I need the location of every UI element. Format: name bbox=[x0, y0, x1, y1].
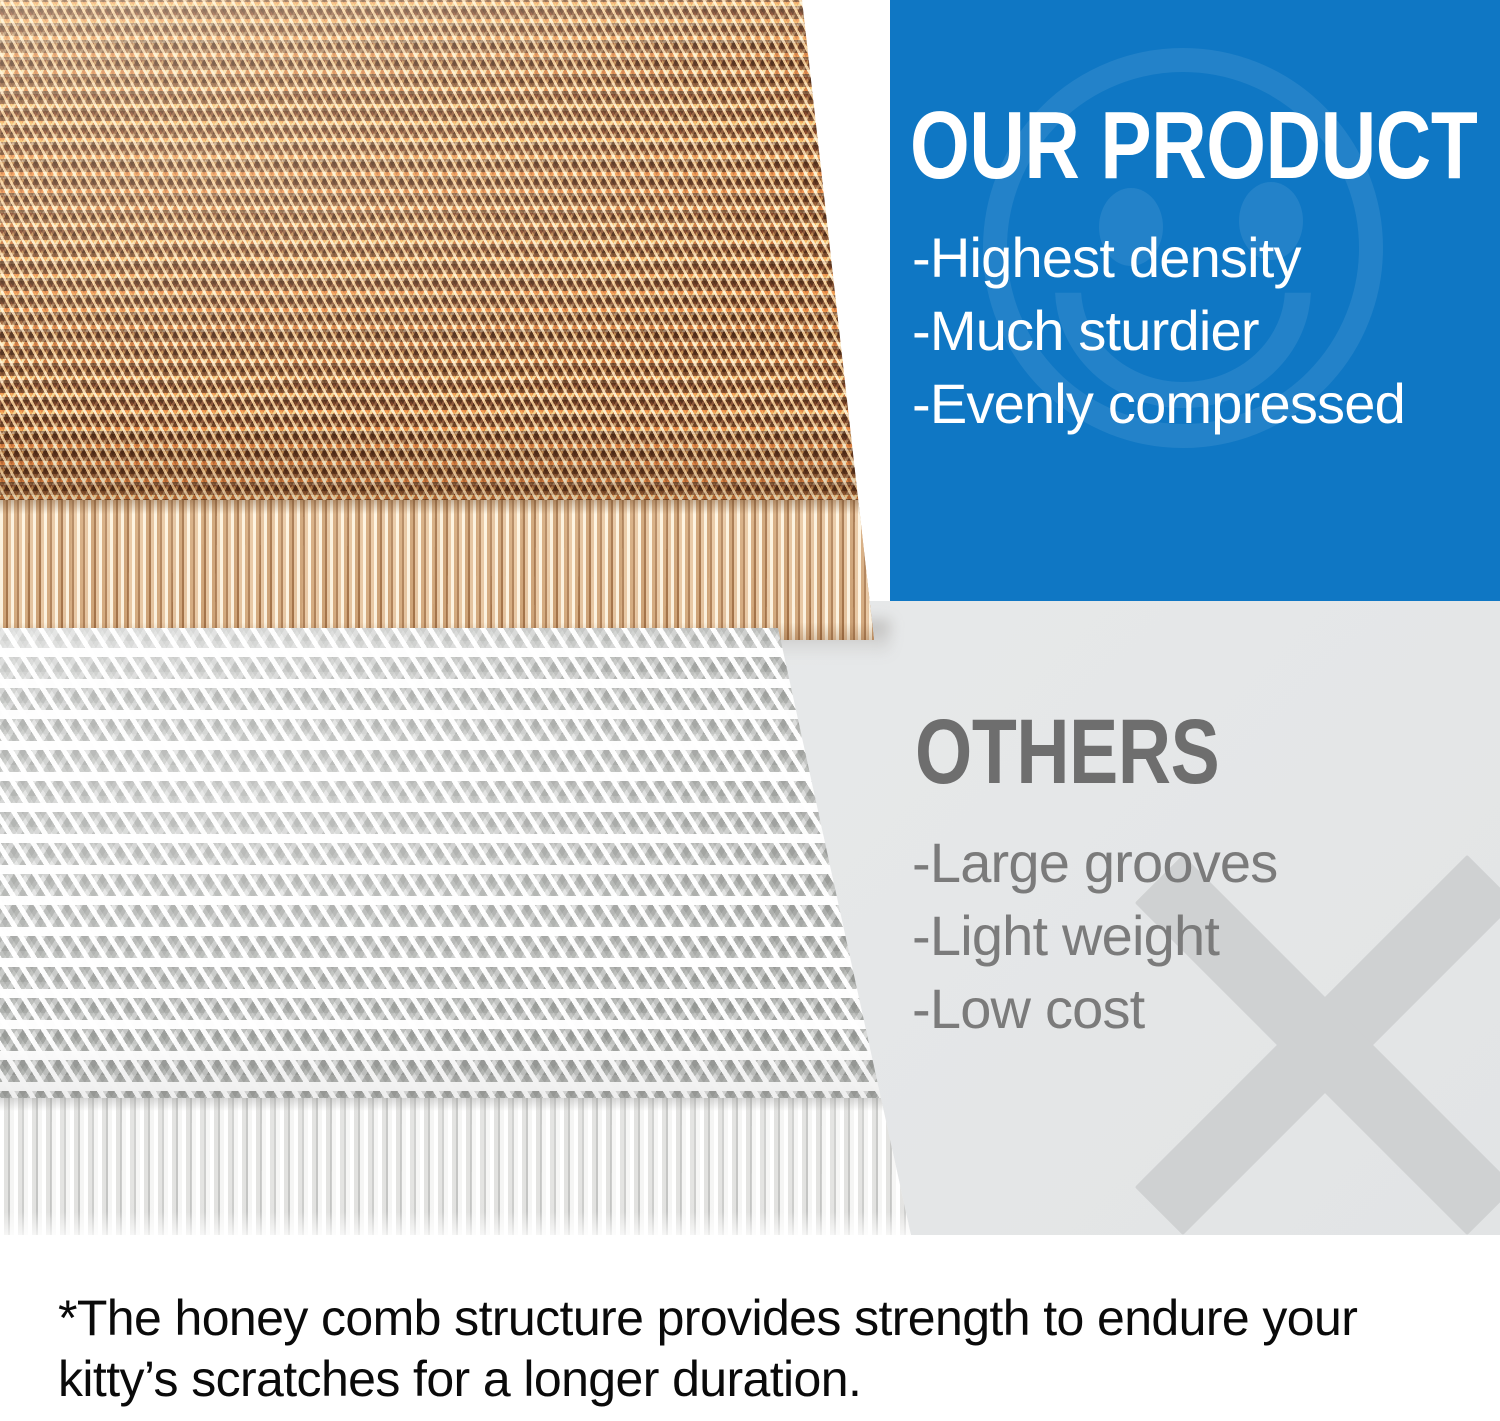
white-honeycomb-cardboard-image bbox=[0, 628, 930, 1240]
our-product-heading: OUR PRODUCT bbox=[910, 98, 1477, 194]
white-honeycomb-surface bbox=[0, 628, 930, 1106]
brown-honeycomb-surface bbox=[0, 0, 880, 508]
list-item: -Large grooves bbox=[912, 827, 1277, 900]
white-slab-edge bbox=[0, 1098, 930, 1240]
others-feature-list: -Large grooves -Light weight -Low cost bbox=[912, 827, 1277, 1045]
infographic-root: OUR PRODUCT OTHERS -Highest density -Muc… bbox=[0, 0, 1500, 1421]
list-item: -Light weight bbox=[912, 900, 1277, 973]
our-product-feature-list: -Highest density -Much sturdier -Evenly … bbox=[912, 222, 1405, 440]
list-item: -Low cost bbox=[912, 973, 1277, 1046]
list-item: -Highest density bbox=[912, 222, 1405, 295]
brown-corrugated-cardboard-image bbox=[0, 0, 880, 640]
list-item: -Much sturdier bbox=[912, 295, 1405, 368]
others-heading: OTHERS bbox=[915, 706, 1219, 798]
list-item: -Evenly compressed bbox=[912, 368, 1405, 441]
brown-slab-edge bbox=[0, 500, 880, 640]
footer-note: *The honey comb structure provides stren… bbox=[58, 1288, 1458, 1410]
